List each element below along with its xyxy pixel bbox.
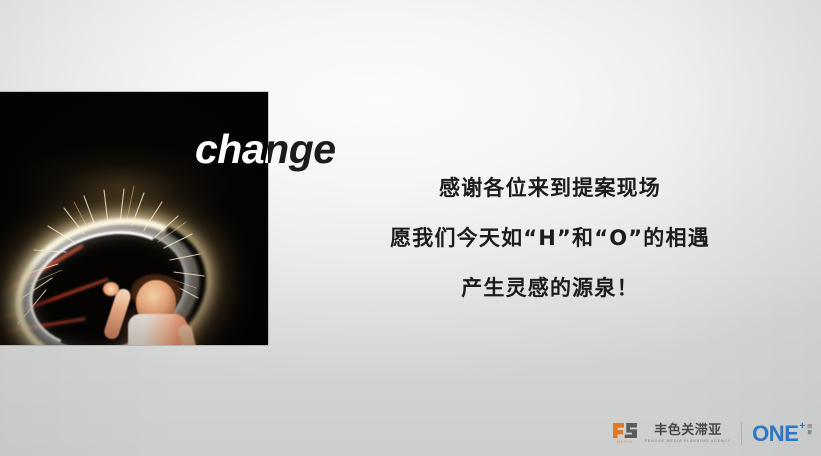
fengse-agency-logo: 丰色关滞亚 FENGSE MEDIA PLANNING AGENCY [645,424,731,444]
message-line-2: 愿我们今天如“H”和“O”的相遇 [300,213,800,263]
one-logo-plus: + [800,422,806,432]
message-line-3: 产生灵感的源泉！ [300,263,800,313]
message-line-1: 感谢各位来到提案现场 [300,163,800,213]
child-lowered-arm [177,323,205,345]
one-logo-text: ONE [752,423,798,445]
fs-letter-f [613,423,624,438]
fs-logo-subtitle: MEDIA [617,439,633,445]
fs-letter-s [624,423,637,438]
one-logo-chinese-line-2: 聚 [807,431,812,437]
logo-divider [741,423,742,445]
fs-glyph [613,423,637,438]
one-logo-chinese: 网 聚 [807,425,812,436]
fs-monogram-icon: MEDIA [612,423,638,445]
presentation-slide: change change 感谢各位来到提案现场 愿我们今天如“H”和“O”的相… [0,0,821,456]
closing-message: 感谢各位来到提案现场 愿我们今天如“H”和“O”的相遇 产生灵感的源泉！ [300,163,800,313]
fengse-chinese-name: 丰色关滞亚 [654,424,722,437]
child-hand [103,282,119,296]
fengse-english-name: FENGSE MEDIA PLANNING AGENCY [645,440,731,444]
footer-logo-bar: MEDIA 丰色关滞亚 FENGSE MEDIA PLANNING AGENCY… [612,419,812,449]
one-logo: ONE + 网 聚 [752,423,812,445]
